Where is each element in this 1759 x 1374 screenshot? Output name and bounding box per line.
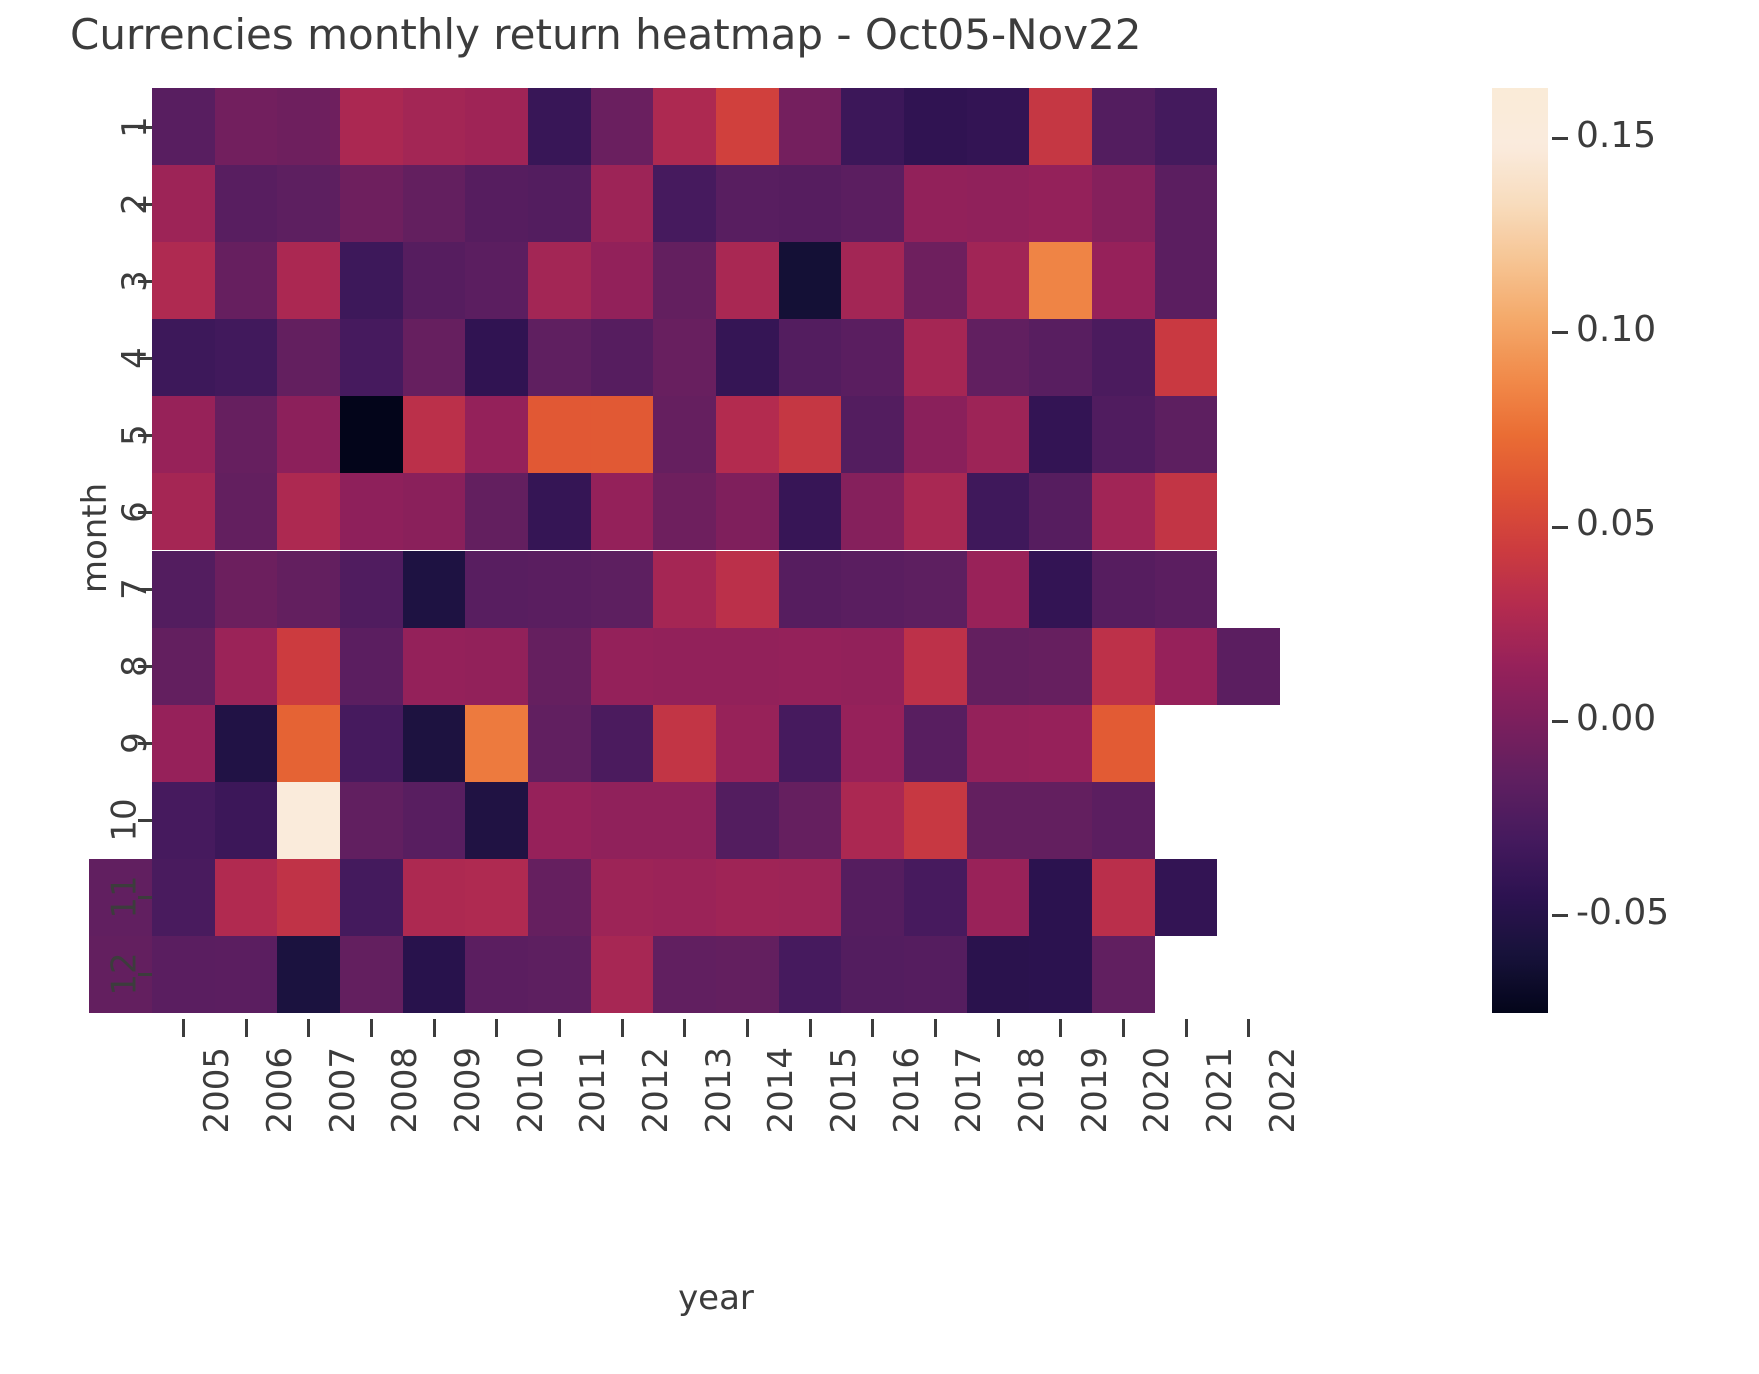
x-tick-mark <box>433 1019 436 1037</box>
x-tick-mark <box>621 1019 624 1037</box>
heatmap-cell <box>591 705 654 782</box>
heatmap-cell <box>841 319 904 396</box>
heatmap-cell <box>591 242 654 319</box>
heatmap-row <box>152 396 1217 473</box>
heatmap-cell <box>779 473 842 550</box>
heatmap-cell <box>967 782 1030 859</box>
colorbar-tick-label: 0.05 <box>1576 503 1656 544</box>
heatmap-cell <box>716 88 779 165</box>
heatmap-cell <box>1029 165 1092 242</box>
heatmap-cell <box>1155 859 1218 936</box>
heatmap-cell <box>465 319 528 396</box>
heatmap-cell <box>1029 859 1092 936</box>
heatmap-cell <box>215 319 278 396</box>
heatmap-cell <box>841 242 904 319</box>
heatmap-row <box>152 628 1280 705</box>
heatmap-cell <box>277 936 340 1013</box>
heatmap-cell <box>1155 473 1218 550</box>
x-tick-mark <box>1185 1019 1188 1037</box>
heatmap-cell <box>340 165 403 242</box>
heatmap-cell <box>403 705 466 782</box>
heatmap-cell <box>403 628 466 705</box>
x-tick-mark <box>370 1019 373 1037</box>
heatmap-cell <box>528 628 591 705</box>
heatmap-cell <box>465 551 528 628</box>
heatmap-cell <box>528 782 591 859</box>
heatmap-cell <box>528 396 591 473</box>
x-tick-mark <box>307 1019 310 1037</box>
y-tick-mark <box>138 511 152 514</box>
heatmap-cell <box>215 88 278 165</box>
heatmap-cell <box>779 165 842 242</box>
heatmap-cell <box>967 628 1030 705</box>
colorbar-tick-mark <box>1552 720 1568 723</box>
heatmap-row <box>152 551 1217 628</box>
heatmap-cell <box>653 396 716 473</box>
heatmap-cell <box>340 782 403 859</box>
colorbar: 0.150.100.050.00-0.05 <box>1492 88 1548 1013</box>
heatmap-cell <box>465 628 528 705</box>
x-tick-mark <box>245 1019 248 1037</box>
heatmap-cell <box>591 165 654 242</box>
x-tick-mark <box>746 1019 749 1037</box>
x-tick-label: 2022 <box>1263 1047 1303 1134</box>
heatmap-cell <box>716 859 779 936</box>
heatmap-cell <box>152 396 215 473</box>
heatmap-grid <box>152 88 1280 1013</box>
x-tick-label: 2018 <box>1012 1047 1052 1134</box>
x-tick-mark <box>997 1019 1000 1037</box>
heatmap-cell <box>716 551 779 628</box>
heatmap-cell <box>653 859 716 936</box>
heatmap-cell <box>340 242 403 319</box>
x-tick-mark <box>683 1019 686 1037</box>
heatmap-cell <box>1029 473 1092 550</box>
heatmap-cell <box>1217 628 1280 705</box>
heatmap-cell <box>152 473 215 550</box>
heatmap-cell <box>528 551 591 628</box>
heatmap-cell <box>528 242 591 319</box>
heatmap-cell <box>1092 936 1155 1013</box>
x-tick-label: 2005 <box>197 1047 237 1134</box>
x-tick-mark <box>182 1019 185 1037</box>
heatmap-cell <box>904 396 967 473</box>
heatmap-row <box>152 319 1217 396</box>
heatmap-cell <box>1092 705 1155 782</box>
heatmap-cell <box>277 859 340 936</box>
heatmap-cell <box>1092 859 1155 936</box>
heatmap-cell <box>340 705 403 782</box>
heatmap-cell <box>967 242 1030 319</box>
heatmap-cell <box>1092 165 1155 242</box>
y-tick-mark <box>138 588 152 591</box>
y-tick-2: 2 <box>106 165 152 242</box>
heatmap-cell <box>340 628 403 705</box>
heatmap-cell <box>403 936 466 1013</box>
heatmap-cell <box>277 551 340 628</box>
x-tick-label: 2009 <box>448 1047 488 1134</box>
heatmap-cell <box>215 859 278 936</box>
heatmap-cell <box>152 165 215 242</box>
heatmap-cell <box>967 859 1030 936</box>
heatmap-cell <box>1092 88 1155 165</box>
heatmap-cell <box>591 396 654 473</box>
heatmap-cell <box>841 165 904 242</box>
heatmap-cell <box>1155 628 1218 705</box>
heatmap-cell <box>528 88 591 165</box>
heatmap-cell <box>653 473 716 550</box>
heatmap-row <box>89 936 1154 1013</box>
heatmap-cell <box>716 705 779 782</box>
colorbar-tick-mark <box>1552 331 1568 334</box>
heatmap-cell <box>528 859 591 936</box>
heatmap-cell <box>591 551 654 628</box>
colorbar-tick-label: 0.00 <box>1576 698 1656 739</box>
heatmap-cell <box>340 473 403 550</box>
heatmap-cell <box>152 705 215 782</box>
heatmap-cell <box>653 319 716 396</box>
heatmap-cell <box>653 936 716 1013</box>
heatmap-cell <box>1029 88 1092 165</box>
heatmap-cell <box>653 551 716 628</box>
x-tick-label: 2008 <box>385 1047 425 1134</box>
heatmap-cell <box>340 396 403 473</box>
heatmap-cell <box>340 319 403 396</box>
heatmap-cell <box>841 396 904 473</box>
heatmap-cell <box>152 859 215 936</box>
heatmap-cell <box>779 782 842 859</box>
heatmap-cell <box>841 88 904 165</box>
heatmap-cell <box>591 319 654 396</box>
y-tick-mark <box>138 665 152 668</box>
heatmap-cell <box>1155 88 1218 165</box>
heatmap-cell <box>904 628 967 705</box>
x-tick-label: 2014 <box>761 1047 801 1134</box>
heatmap-cell <box>1029 628 1092 705</box>
heatmap-cell <box>1029 242 1092 319</box>
x-tick-mark <box>871 1019 874 1037</box>
y-tick-8: 8 <box>106 628 152 705</box>
y-tick-mark <box>138 126 152 129</box>
heatmap-cell <box>1092 628 1155 705</box>
heatmap-cell <box>1029 319 1092 396</box>
heatmap-cell <box>215 936 278 1013</box>
heatmap-cell <box>591 88 654 165</box>
colorbar-tick-mark <box>1552 137 1568 140</box>
heatmap-cell <box>215 782 278 859</box>
heatmap-cell <box>779 936 842 1013</box>
heatmap-cell <box>904 88 967 165</box>
x-tick-label: 2021 <box>1200 1047 1240 1134</box>
heatmap-cell <box>716 165 779 242</box>
x-tick-label: 2012 <box>636 1047 676 1134</box>
heatmap-cell <box>152 782 215 859</box>
heatmap-cell <box>967 551 1030 628</box>
heatmap-cell <box>591 473 654 550</box>
y-tick-3: 3 <box>106 242 152 319</box>
x-tick-label: 2010 <box>511 1047 551 1134</box>
x-tick-label: 2016 <box>887 1047 927 1134</box>
heatmap-cell <box>716 782 779 859</box>
y-tick-9: 9 <box>106 705 152 782</box>
heatmap-cell <box>215 165 278 242</box>
colorbar-tick-mark <box>1552 526 1568 529</box>
x-tick-mark <box>809 1019 812 1037</box>
heatmap-cell <box>403 473 466 550</box>
heatmap-cell <box>653 88 716 165</box>
heatmap-cell <box>1092 242 1155 319</box>
heatmap-cell <box>340 551 403 628</box>
x-tick-mark <box>1122 1019 1125 1037</box>
heatmap-cell <box>465 473 528 550</box>
heatmap-cell <box>277 396 340 473</box>
heatmap-cell <box>465 88 528 165</box>
colorbar-tick-label: 0.15 <box>1576 115 1656 156</box>
heatmap-row <box>89 859 1217 936</box>
heatmap-cell <box>653 705 716 782</box>
heatmap-cell <box>1092 551 1155 628</box>
heatmap-row <box>152 88 1217 165</box>
heatmap-cell <box>152 88 215 165</box>
heatmap-cell <box>465 782 528 859</box>
heatmap-cell <box>1092 319 1155 396</box>
heatmap-cell <box>841 936 904 1013</box>
heatmap-cell <box>465 859 528 936</box>
heatmap-cell <box>465 936 528 1013</box>
x-tick-label: 2007 <box>323 1047 363 1134</box>
heatmap-cell <box>716 242 779 319</box>
heatmap-cell <box>1155 319 1218 396</box>
heatmap-cell <box>403 165 466 242</box>
heatmap-cell <box>841 705 904 782</box>
y-tick-4: 4 <box>106 319 152 396</box>
y-axis-label: month <box>75 483 115 593</box>
heatmap-cell <box>528 319 591 396</box>
heatmap-cell <box>967 473 1030 550</box>
y-tick-mark <box>138 434 152 437</box>
heatmap-cell <box>1155 551 1218 628</box>
heatmap-cell <box>653 165 716 242</box>
heatmap-cell <box>277 319 340 396</box>
heatmap-cell <box>716 936 779 1013</box>
heatmap-cell <box>591 936 654 1013</box>
heatmap-cell <box>904 242 967 319</box>
y-tick-mark <box>138 973 152 976</box>
x-tick-mark <box>558 1019 561 1037</box>
y-tick-11: 11 <box>106 859 152 936</box>
heatmap-cell <box>779 242 842 319</box>
y-tick-mark <box>138 280 152 283</box>
heatmap-cell <box>716 319 779 396</box>
heatmap-cell <box>277 242 340 319</box>
heatmap-cell <box>904 165 967 242</box>
heatmap-cell <box>967 705 1030 782</box>
heatmap-row <box>152 165 1217 242</box>
x-tick-mark <box>934 1019 937 1037</box>
colorbar-tick-label: 0.10 <box>1576 309 1656 350</box>
y-tick-1: 1 <box>106 88 152 165</box>
y-tick-12: 12 <box>106 936 152 1013</box>
heatmap-cell <box>215 396 278 473</box>
heatmap-cell <box>967 396 1030 473</box>
heatmap-cell <box>403 782 466 859</box>
heatmap-cell <box>779 396 842 473</box>
heatmap-cell <box>340 859 403 936</box>
heatmap-cell <box>1029 396 1092 473</box>
y-tick-mark <box>138 896 152 899</box>
heatmap-cell <box>152 628 215 705</box>
heatmap-cell <box>779 88 842 165</box>
heatmap-cell <box>904 782 967 859</box>
colorbar-tick-mark <box>1552 914 1568 917</box>
heatmap-cell <box>403 319 466 396</box>
heatmap-cell <box>1155 242 1218 319</box>
heatmap-cell <box>841 551 904 628</box>
heatmap-cell <box>403 396 466 473</box>
heatmap-cell <box>904 859 967 936</box>
heatmap-cell <box>1155 396 1218 473</box>
heatmap-cell <box>465 396 528 473</box>
heatmap-cell <box>779 628 842 705</box>
heatmap-cell <box>1092 396 1155 473</box>
heatmap-cell <box>277 88 340 165</box>
x-tick-label: 2013 <box>699 1047 739 1134</box>
heatmap-cell <box>465 165 528 242</box>
heatmap-cell <box>967 319 1030 396</box>
heatmap-cell <box>1029 551 1092 628</box>
x-tick-mark <box>1247 1019 1250 1037</box>
heatmap-cell <box>1029 936 1092 1013</box>
heatmap-cell <box>215 242 278 319</box>
heatmap-cell <box>465 242 528 319</box>
heatmap-cell <box>716 628 779 705</box>
heatmap-cell <box>528 165 591 242</box>
heatmap-cell <box>904 319 967 396</box>
heatmap-cell <box>152 551 215 628</box>
colorbar-gradient <box>1492 88 1548 1013</box>
heatmap-cell <box>1155 165 1218 242</box>
heatmap-cell <box>904 473 967 550</box>
heatmap-cell <box>215 628 278 705</box>
x-tick-label: 2015 <box>824 1047 864 1134</box>
x-tick-label: 2020 <box>1137 1047 1177 1134</box>
x-tick-label: 2006 <box>260 1047 300 1134</box>
heatmap-cell <box>277 782 340 859</box>
heatmap-cell <box>841 628 904 705</box>
heatmap-cell <box>465 705 528 782</box>
heatmap-cell <box>779 319 842 396</box>
heatmap-cell <box>403 551 466 628</box>
heatmap-cell <box>841 473 904 550</box>
heatmap-cell <box>277 705 340 782</box>
y-tick-mark <box>138 819 152 822</box>
heatmap-cell <box>152 242 215 319</box>
heatmap-cell <box>277 165 340 242</box>
x-axis-label: year <box>152 1278 1280 1318</box>
heatmap-cell <box>403 859 466 936</box>
heatmap-cell <box>967 165 1030 242</box>
heatmap-cell <box>1029 782 1092 859</box>
heatmap-cell <box>779 705 842 782</box>
heatmap-cell <box>779 551 842 628</box>
heatmap-cell <box>1029 705 1092 782</box>
heatmap-cell <box>152 936 215 1013</box>
heatmap-cell <box>653 242 716 319</box>
heatmap-cell <box>1092 473 1155 550</box>
x-tick-mark <box>1059 1019 1062 1037</box>
y-tick-mark <box>138 742 152 745</box>
heatmap-cell <box>1092 782 1155 859</box>
x-tick-mark <box>495 1019 498 1037</box>
heatmap-cell <box>779 859 842 936</box>
heatmap-row <box>152 242 1217 319</box>
heatmap-cell <box>528 705 591 782</box>
x-tick-label: 2019 <box>1075 1047 1115 1134</box>
heatmap-cell <box>904 551 967 628</box>
heatmap-cell <box>841 859 904 936</box>
heatmap-cell <box>340 88 403 165</box>
figure-canvas: Currencies monthly return heatmap - Oct0… <box>0 0 1759 1374</box>
heatmap-cell <box>904 705 967 782</box>
heatmap-cell <box>591 628 654 705</box>
heatmap-row <box>152 473 1217 550</box>
heatmap-cell <box>591 859 654 936</box>
heatmap-cell <box>904 936 967 1013</box>
heatmap-cell <box>340 936 403 1013</box>
y-tick-10: 10 <box>106 782 152 859</box>
heatmap-cell <box>215 551 278 628</box>
heatmap-row <box>152 782 1155 859</box>
heatmap-cell <box>841 782 904 859</box>
x-tick-label: 2011 <box>573 1047 613 1134</box>
heatmap-cell <box>215 473 278 550</box>
heatmap-cell <box>277 473 340 550</box>
heatmap-cell <box>215 705 278 782</box>
y-tick-5: 5 <box>106 396 152 473</box>
heatmap-cell <box>716 473 779 550</box>
heatmap-cell <box>967 936 1030 1013</box>
heatmap-cell <box>277 628 340 705</box>
heatmap-cell <box>528 936 591 1013</box>
heatmap-cell <box>152 319 215 396</box>
colorbar-tick-label: -0.05 <box>1576 892 1669 933</box>
heatmap-cell <box>528 473 591 550</box>
heatmap-cell <box>591 782 654 859</box>
heatmap-row <box>152 705 1155 782</box>
heatmap-plot-area: 123456789101112 month 200520062007200820… <box>152 88 1280 1013</box>
heatmap-cell <box>653 628 716 705</box>
chart-title: Currencies monthly return heatmap - Oct0… <box>70 10 1142 59</box>
heatmap-cell <box>967 88 1030 165</box>
heatmap-cell <box>716 396 779 473</box>
y-tick-mark <box>138 357 152 360</box>
heatmap-cell <box>653 782 716 859</box>
heatmap-cell <box>403 242 466 319</box>
heatmap-cell <box>403 88 466 165</box>
x-tick-label: 2017 <box>949 1047 989 1134</box>
y-tick-mark <box>138 203 152 206</box>
